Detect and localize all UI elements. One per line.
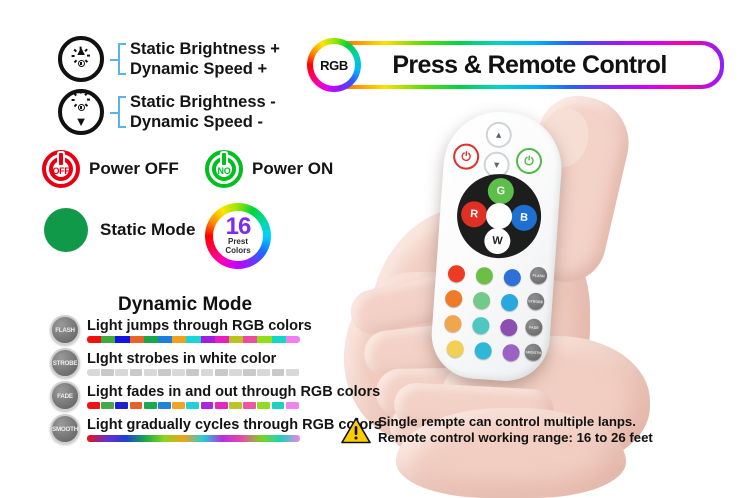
chevron-down-icon: ▼: [485, 153, 508, 176]
infographic-root: ▲ ▼ ⏻ ⏻ G B W R FLASH: [0, 0, 750, 464]
smooth-text-block: Light gradually cycles through RGB color…: [87, 417, 382, 442]
wheel-center-button[interactable]: [485, 202, 513, 230]
brightness-down-line1: Static Brightness -: [130, 92, 276, 112]
preset-colors-inner: 16 Prest Colors: [213, 211, 263, 261]
header-banner-inner: Press & Remote Control: [313, 45, 720, 85]
power-off-icon-label: OFF: [42, 150, 80, 188]
strobe-color-strip: [87, 369, 300, 376]
chevron-down-sun-icon[interactable]: ▼: [58, 89, 104, 135]
remote-power-off-button[interactable]: ⏻: [452, 143, 480, 171]
chevron-up-icon: ▲: [487, 123, 510, 146]
smooth-caption: Light gradually cycles through RGB color…: [87, 417, 382, 433]
power-off-label: Power OFF: [89, 159, 179, 179]
bracket-connector: [110, 92, 126, 132]
strobe-text-block: LIght strobes in white color: [87, 351, 300, 376]
wheel-white-button[interactable]: W: [483, 227, 511, 255]
remote-brightness-up-button[interactable]: ▲: [485, 121, 513, 149]
remote-fade-label: FADE: [529, 325, 539, 330]
power-on-row: NO Power ON: [205, 150, 333, 188]
remote-color-button[interactable]: [501, 293, 519, 311]
remote-flash-button[interactable]: FLASH: [529, 266, 547, 284]
flash-color-strip: [87, 336, 300, 343]
wheel-blue-button[interactable]: B: [510, 204, 538, 232]
page-title: Press & Remote Control: [392, 51, 666, 80]
flash-mode-button[interactable]: FLASH: [50, 315, 80, 345]
remote-color-button[interactable]: [503, 269, 521, 287]
preset-line2: Colors: [225, 246, 250, 255]
warning-line1: Single rempte can control multiple lanps…: [378, 414, 653, 430]
static-mode-color-dot: [44, 208, 88, 252]
brightness-up-line2: Dynamic Speed +: [130, 59, 280, 79]
wheel-green-button[interactable]: G: [487, 177, 515, 205]
sun-glyph: [73, 55, 90, 72]
remote-fade-button[interactable]: FADE: [525, 318, 543, 336]
strobe-mode-button[interactable]: STROBE: [50, 348, 80, 378]
fade-button-label: FADE: [57, 393, 73, 400]
warning-line2: Remote control working range: 16 to 26 f…: [378, 430, 653, 446]
warning-block: Single rempte can control multiple lanps…: [341, 414, 653, 446]
strobe-caption: LIght strobes in white color: [87, 351, 300, 367]
wheel-blue-label: B: [520, 212, 529, 225]
preset-line1: Prest: [228, 237, 248, 246]
power-off-icon: ⏻: [454, 145, 477, 168]
wheel-white-label: W: [492, 235, 503, 248]
smooth-button-label: SMOOTH: [52, 426, 78, 433]
preset-count: 16: [226, 217, 251, 237]
remote-color-button[interactable]: [473, 291, 491, 309]
brightness-up-line1: Static Brightness +: [130, 39, 280, 59]
rgb-badge-label: RGB: [313, 44, 355, 86]
power-on-icon[interactable]: NO: [205, 150, 243, 188]
strobe-button-label: STROBE: [53, 360, 78, 367]
dynamic-mode-title: Dynamic Mode: [118, 294, 252, 316]
dynamic-row-flash: FLASH Light jumps through RGB colors: [50, 315, 312, 345]
remote-strobe-button[interactable]: STROBE: [527, 292, 545, 310]
chevron-up-sun-icon[interactable]: ▲: [58, 36, 104, 82]
power-off-icon[interactable]: OFF: [42, 150, 80, 188]
fade-mode-button[interactable]: FADE: [50, 381, 80, 411]
remote-flash-label: FLASH: [532, 273, 544, 278]
brightness-down-line2: Dynamic Speed -: [130, 112, 276, 132]
remote-strobe-label: STROBE: [528, 299, 543, 304]
bracket-connector: [110, 39, 126, 79]
static-mode-label: Static Mode: [100, 220, 195, 240]
warning-triangle-icon: [341, 417, 371, 444]
flash-caption: Light jumps through RGB colors: [87, 318, 312, 334]
power-on-icon-label: NO: [205, 150, 243, 188]
remote-color-button[interactable]: [447, 265, 465, 283]
fade-text-block: Light fades in and out through RGB color…: [87, 384, 380, 409]
sun-glyph: [73, 99, 90, 116]
brightness-up-labels: Static Brightness + Dynamic Speed +: [130, 39, 280, 79]
fade-color-strip: [87, 402, 300, 409]
warning-text: Single rempte can control multiple lanps…: [378, 414, 653, 446]
brightness-down-row: ▼ Static Brightness - Dynamic Speed -: [58, 89, 276, 135]
hand-holding-remote: ▲ ▼ ⏻ ⏻ G B W R FLASH: [330, 86, 750, 464]
dynamic-row-smooth: SMOOTH Light gradually cycles through RG…: [50, 414, 382, 444]
power-off-row: OFF Power OFF: [42, 150, 179, 188]
flash-button-label: FLASH: [55, 327, 75, 334]
power-on-label: Power ON: [252, 159, 333, 179]
remote-power-on-button[interactable]: ⏻: [515, 147, 543, 175]
dynamic-row-fade: FADE Light fades in and out through RGB …: [50, 381, 380, 411]
chevron-down-glyph: ▼: [75, 118, 88, 126]
brightness-up-row: ▲ Static Brightness + Dynamic Speed +: [58, 36, 280, 82]
smooth-mode-button[interactable]: SMOOTH: [50, 414, 80, 444]
smooth-color-strip: [87, 435, 300, 442]
flash-text-block: Light jumps through RGB colors: [87, 318, 312, 343]
wheel-green-label: G: [496, 185, 505, 198]
remote-color-button[interactable]: [475, 267, 493, 285]
remote-smooth-button[interactable]: SMOOTH: [524, 343, 542, 361]
preset-colors-badge: 16 Prest Colors: [205, 203, 271, 269]
dynamic-row-strobe: STROBE LIght strobes in white color: [50, 348, 300, 378]
remote-color-button[interactable]: [445, 290, 463, 308]
header-banner: Press & Remote Control: [309, 41, 724, 89]
rgb-badge: RGB: [307, 38, 361, 92]
remote-rgbw-wheel[interactable]: G B W R: [454, 171, 544, 261]
brightness-down-labels: Static Brightness - Dynamic Speed -: [130, 92, 276, 132]
remote-smooth-label: SMOOTH: [525, 350, 541, 355]
wheel-red-label: R: [470, 208, 479, 221]
wheel-red-button[interactable]: R: [460, 200, 488, 228]
fade-caption: Light fades in and out through RGB color…: [87, 384, 380, 400]
power-on-icon: ⏻: [517, 149, 540, 172]
